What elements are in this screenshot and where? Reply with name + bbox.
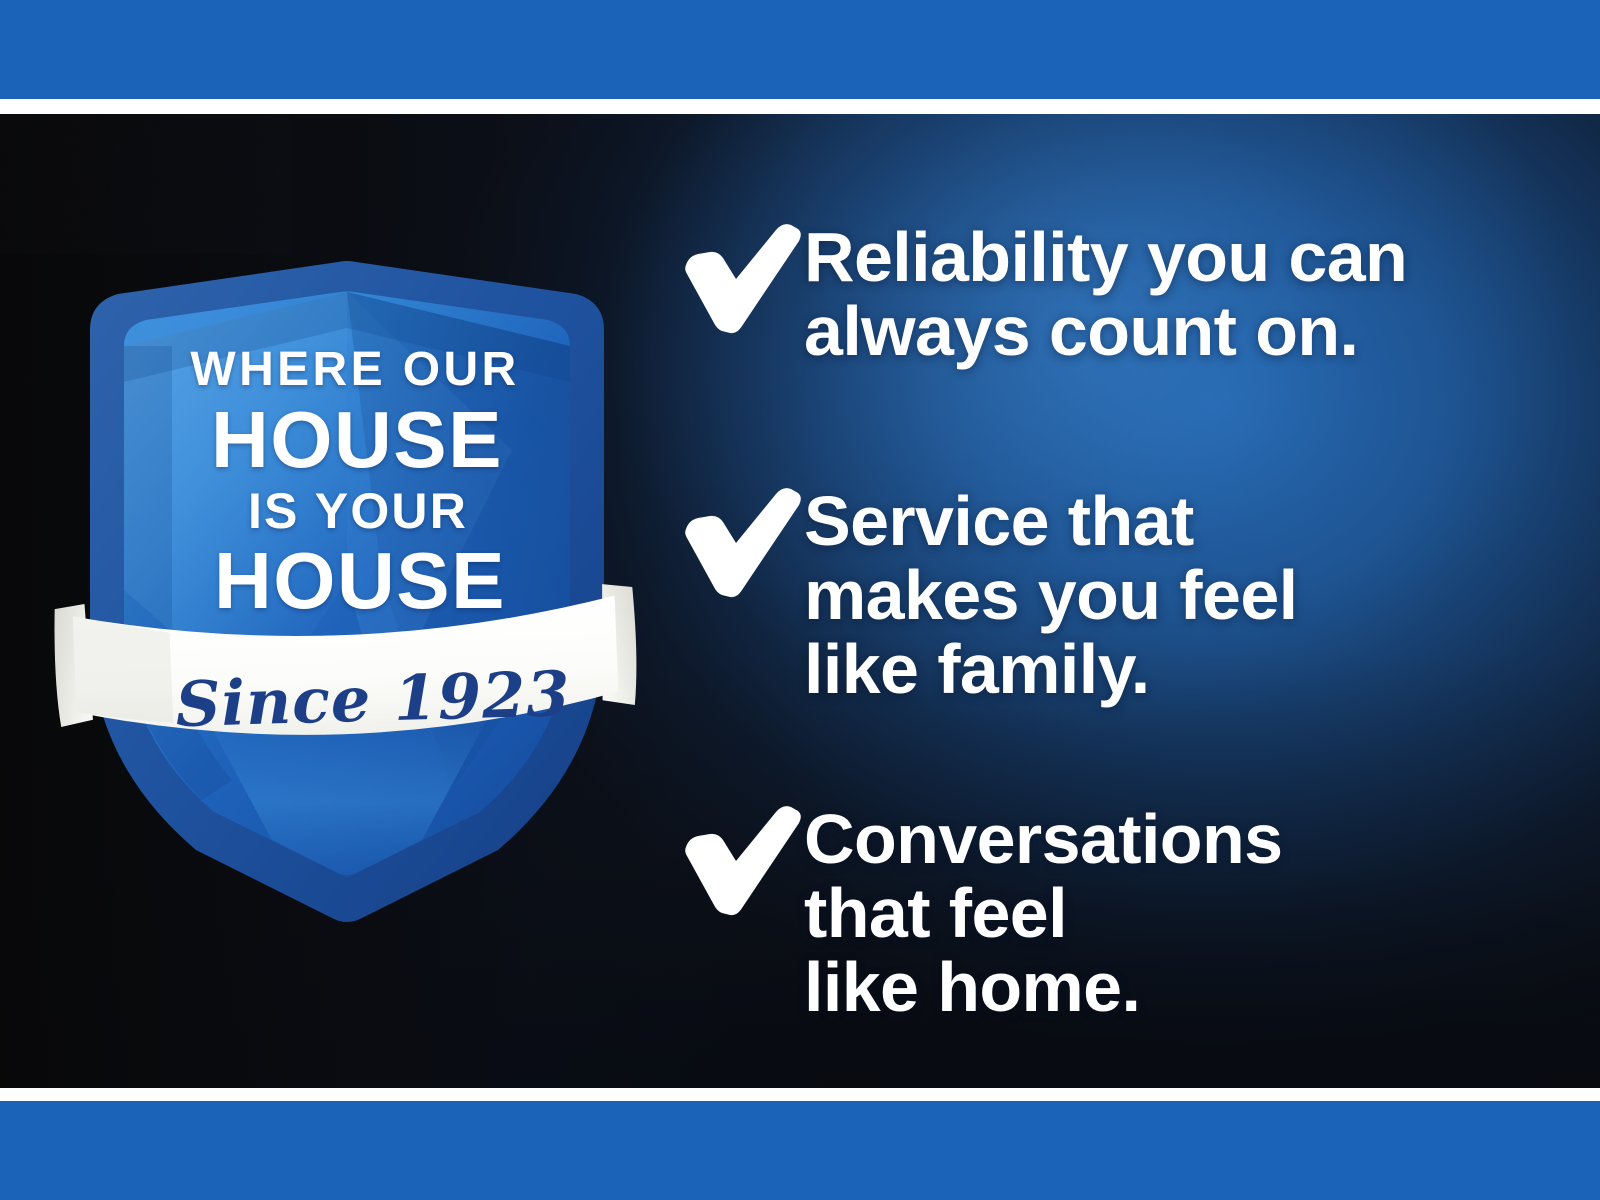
benefit-item-reliability: Reliability you can always count on. [672, 214, 1572, 368]
top-brand-bar [0, 0, 1600, 99]
benefit-item-service: Service that makes you feel like family. [672, 478, 1572, 707]
benefit-line: always count on. [804, 294, 1572, 368]
benefit-item-conversations: Conversations that feel like home. [672, 796, 1572, 1025]
benefit-line: that feel [804, 876, 1572, 950]
benefit-line: like home. [804, 950, 1572, 1024]
benefit-line: like family. [804, 632, 1572, 706]
benefit-line: makes you feel [804, 558, 1572, 632]
checkmark-icon [672, 800, 804, 916]
checkmark-icon [672, 482, 804, 598]
bottom-brand-bar [0, 1101, 1600, 1200]
benefit-text: Service that makes you feel like family. [804, 478, 1572, 707]
benefit-line: Service that [804, 484, 1572, 558]
promo-graphic: WHERE OUR HOUSE IS YOUR HOUSE Since 1923… [0, 0, 1600, 1200]
benefit-line: Conversations [804, 802, 1572, 876]
checkmark-icon [672, 218, 804, 334]
benefit-text: Conversations that feel like home. [804, 796, 1572, 1025]
benefit-line: Reliability you can [804, 220, 1572, 294]
shield-emblem: WHERE OUR HOUSE IS YOUR HOUSE Since 1923 [52, 150, 642, 950]
benefit-text: Reliability you can always count on. [804, 214, 1572, 368]
benefits-list: Reliability you can always count on. Ser… [672, 114, 1572, 1088]
